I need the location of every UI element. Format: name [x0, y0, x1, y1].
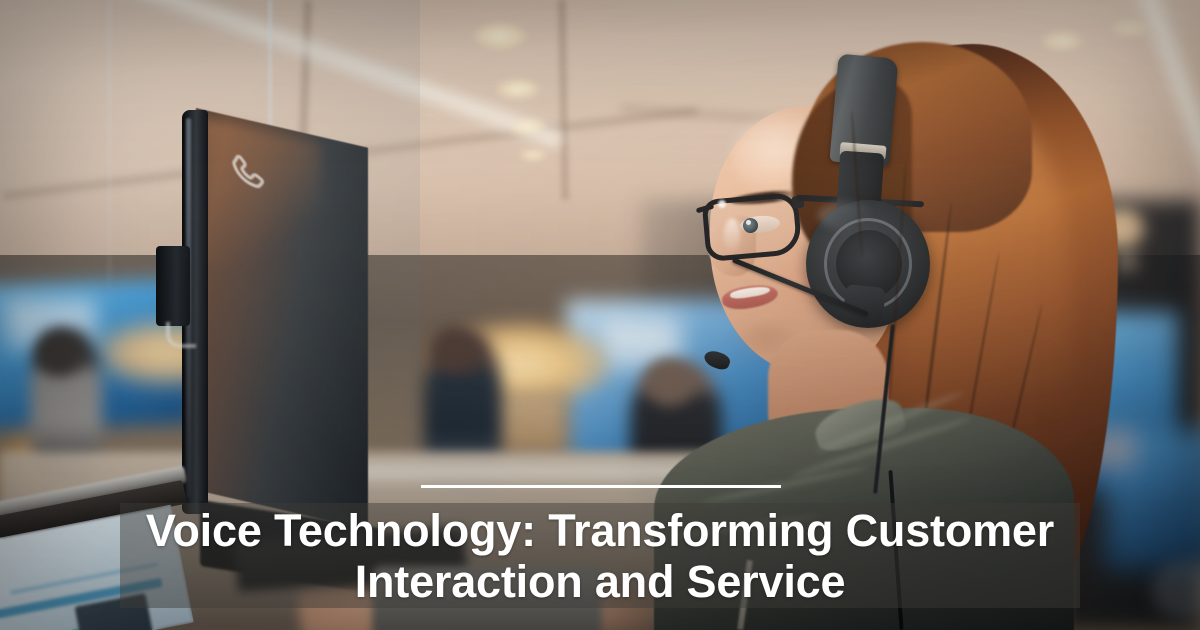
title-line-2: Interaction and Service: [355, 556, 846, 607]
title-line-1: Voice Technology: Transforming Customer: [146, 505, 1054, 556]
headset-earcup-highlight: [818, 202, 876, 230]
hero-banner: Voice Technology: Transforming Customer …: [0, 0, 1200, 630]
ceiling-downlight: [472, 22, 528, 50]
ceiling-downlight: [518, 148, 548, 162]
monitor-screen-glow: [200, 116, 320, 294]
phone-handset-icon: [226, 149, 270, 199]
blurred-coworker-head: [432, 328, 476, 372]
title-divider-rule: [421, 485, 781, 488]
monitor-arm: [156, 246, 190, 326]
blurred-coworker-head: [36, 330, 82, 376]
monitor-cable: [166, 322, 196, 348]
eyeglasses-glint: [718, 200, 726, 208]
page-title: Voice Technology: Transforming Customer …: [120, 500, 1080, 612]
eyeglasses-lens: [701, 192, 802, 262]
ceiling-downlight: [495, 78, 541, 100]
ceiling-downlight: [510, 118, 546, 136]
headset-microphone-tip: [702, 348, 732, 372]
